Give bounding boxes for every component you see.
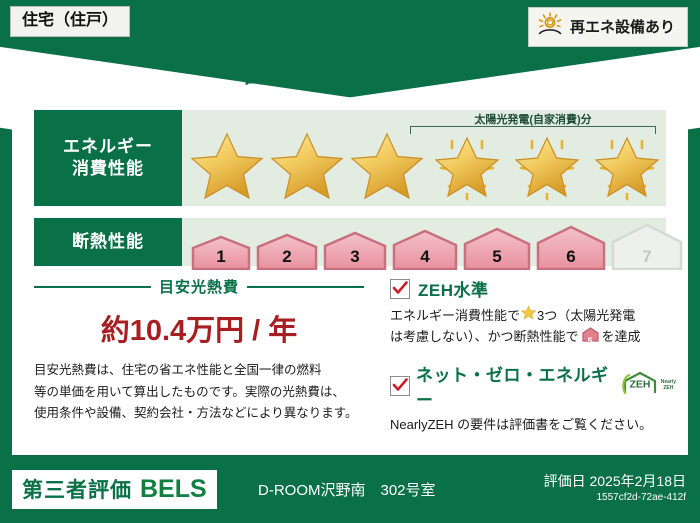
energy-label-line2: 消費性能 — [72, 158, 144, 180]
utility-cost-heading: 目安光熱費 — [34, 276, 364, 297]
criteria-zeh-standard: ZEH水準 エネルギー消費性能で 3つ（太陽光発電 は考慮しない）、かつ断熱性能… — [390, 276, 676, 349]
star-filled — [268, 128, 346, 202]
grade-badge-4: 4 — [391, 228, 459, 270]
utility-cost-block: 目安光熱費 約10.4万円 / 年 — [34, 276, 364, 349]
zeh-nearly-line2: ZEH — [663, 385, 673, 391]
star-rating — [188, 128, 666, 202]
utility-cost-value: 約10.4万円 / 年 — [34, 307, 364, 349]
checkbox-checked-icon — [390, 279, 410, 299]
note-line-1: 目安光熱費は、住宅の省エネ性能と全国一律の燃料 — [34, 360, 370, 382]
net-zero-header: ネット・ゼロ・エネルギー ZEH Nearly ZEH — [390, 361, 676, 411]
energy-performance-label: エネルギー 消費性能 — [34, 110, 182, 206]
heading-rule-left — [34, 286, 151, 288]
grade-number: 1 — [190, 247, 252, 267]
star-filled — [348, 128, 426, 202]
evaluation-id: 1557cf2d-72ae-412f — [596, 492, 686, 503]
criteria-column: ZEH水準 エネルギー消費性能で 3つ（太陽光発電 は考慮しない）、かつ断熱性能… — [390, 276, 676, 447]
criteria-net-zero: ネット・ゼロ・エネルギー ZEH Nearly ZEH Nea — [390, 361, 676, 436]
zeh-logo: ZEH Nearly ZEH — [621, 371, 676, 400]
energy-performance-row: エネルギー 消費性能 太陽光発電(自家消費)分 — [34, 110, 666, 206]
footer-bar: 第三者評価 BELS D-ROOM沢野南 302号室 評価日 2025年2月18… — [0, 461, 700, 523]
grade-badge-3: 3 — [322, 230, 388, 270]
grade-number: 4 — [391, 247, 459, 267]
inline-grade-number: 5 — [582, 334, 599, 348]
star-solar — [508, 128, 586, 202]
sun-solar-icon — [537, 12, 563, 41]
energy-star-area: 太陽光発電(自家消費)分 — [182, 110, 666, 206]
zeh-standard-line2-a: は考慮しない）、かつ断熱性能で — [390, 327, 579, 348]
zeh-nearly-label: Nearly ZEH — [661, 380, 676, 391]
title-block: 建築物省エネ法に基づく 省エネ性能ラベル — [0, 40, 700, 90]
heading-rule-right — [247, 286, 364, 288]
zeh-standard-title: ZEH水準 — [418, 276, 489, 301]
insulation-performance-label: 断熱性能 — [34, 218, 182, 266]
title-subtitle: 建築物省エネ法に基づく — [0, 40, 700, 56]
utility-cost-heading-label: 目安光熱費 — [159, 276, 239, 297]
grade-number: 5 — [462, 247, 532, 267]
grade-badge-6: 6 — [535, 224, 607, 270]
zeh-standard-body: エネルギー消費性能で 3つ（太陽光発電 は考慮しない）、かつ断熱性能で — [390, 305, 676, 349]
net-zero-title: ネット・ゼロ・エネルギー — [416, 361, 615, 411]
note-line-2: 等の単価を用いて算出したものです。実際の光熱費は、 — [34, 382, 370, 404]
inline-grade-badge: 5 — [582, 327, 599, 349]
svg-text:ZEH: ZEH — [629, 379, 650, 391]
star-solar — [588, 128, 666, 202]
checkbox-checked-icon — [390, 376, 410, 396]
grade-number: 3 — [322, 247, 388, 267]
grade-number: 7 — [610, 247, 684, 267]
page-title: 省エネ性能ラベル — [0, 57, 700, 90]
grade-number: 2 — [255, 247, 319, 267]
grade-badge-1: 1 — [190, 234, 252, 270]
renewable-badge-label: 再エネ設備あり — [570, 16, 675, 37]
note-line-3: 使用条件や設備、契約会社・方法などにより異なります。 — [34, 403, 370, 425]
inline-star-icon — [521, 305, 536, 327]
bels-en-label: BELS — [140, 475, 207, 504]
header: 住宅（住戸） 再エネ設備あり 建築物省エネ法に基づく 省エネ性 — [0, 0, 700, 102]
zeh-standard-header: ZEH水準 — [390, 276, 676, 301]
energy-label-line1: エネルギー — [63, 136, 153, 158]
grade-badge-2: 2 — [255, 232, 319, 270]
star-solar — [428, 128, 506, 202]
building-type-badge: 住宅（住戸） — [10, 6, 130, 37]
solar-bracket-label: 太陽光発電(自家消費)分 — [410, 111, 656, 127]
zeh-standard-line1-a: エネルギー消費性能で — [390, 306, 520, 327]
zeh-standard-line-2: は考慮しない）、かつ断熱性能で 5 を達成 — [390, 327, 676, 349]
evaluation-date: 評価日 2025年2月18日 — [544, 471, 686, 491]
property-name: D-ROOM沢野南 302号室 — [258, 479, 436, 500]
insulation-grade-area: 1 2 3 4 — [182, 218, 666, 266]
grade-number: 6 — [535, 247, 607, 267]
utility-cost-note: 目安光熱費は、住宅の省エネ性能と全国一律の燃料 等の単価を用いて算出したものです… — [34, 360, 370, 425]
grade-badge-5: 5 — [462, 226, 532, 270]
main-panel: エネルギー 消費性能 太陽光発電(自家消費)分 — [12, 100, 688, 455]
insulation-grade-scale: 1 2 3 4 — [190, 222, 684, 270]
zeh-standard-line-1: エネルギー消費性能で 3つ（太陽光発電 — [390, 305, 676, 327]
insulation-performance-row: 断熱性能 1 — [34, 218, 666, 266]
bels-jp-label: 第三者評価 — [22, 474, 132, 504]
grade-badge-7: 7 — [610, 222, 684, 270]
zeh-standard-line1-b: 3つ（太陽光発電 — [537, 306, 635, 327]
zeh-standard-line2-b: を達成 — [602, 327, 641, 348]
star-filled — [188, 128, 266, 202]
bels-badge: 第三者評価 BELS — [12, 470, 217, 509]
net-zero-body: NearlyZEH の要件は評価書をご覧ください。 — [390, 415, 676, 436]
zeh-house-icon: ZEH — [621, 371, 659, 400]
